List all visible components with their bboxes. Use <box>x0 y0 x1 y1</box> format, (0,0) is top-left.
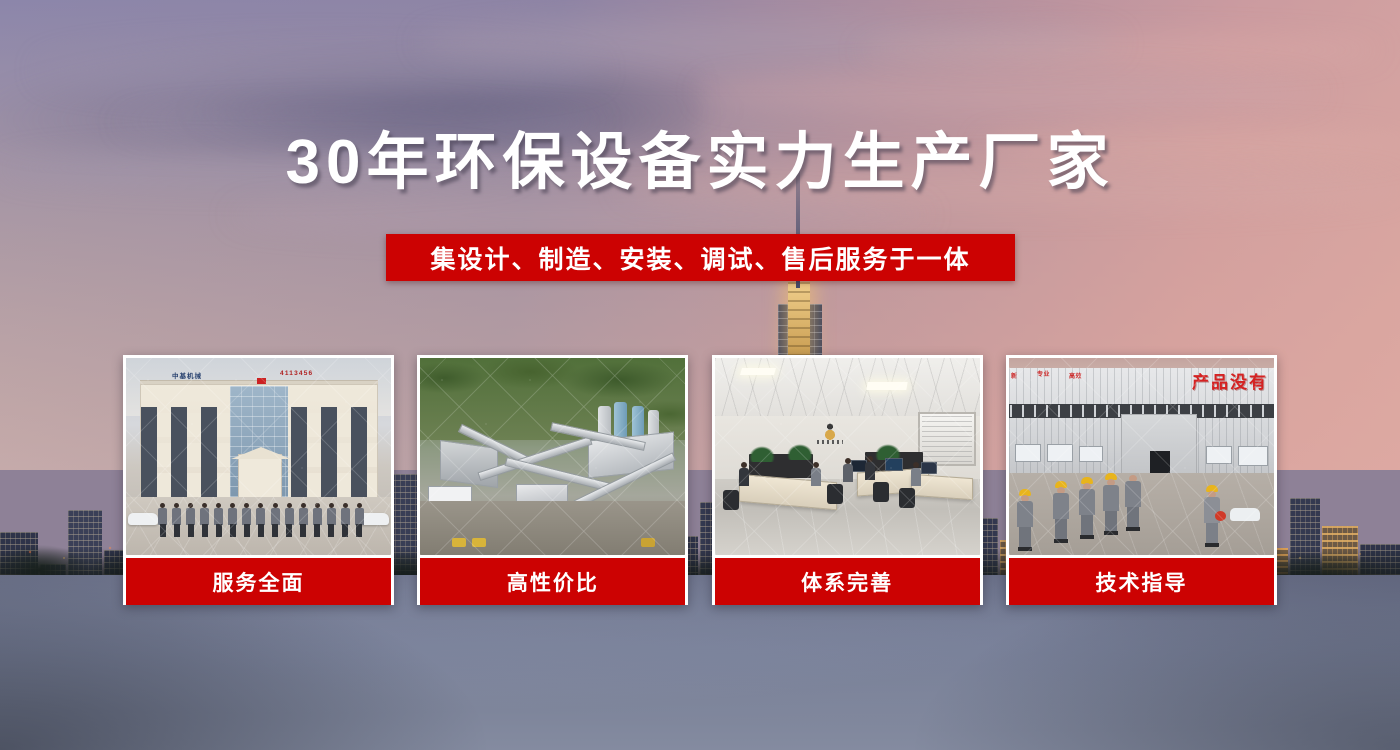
company-building-staff-photo: 中基机械 4113456 <box>126 358 391 555</box>
factory-slogan-small: 新 <box>1011 374 1018 382</box>
factory-slogan-small: 高效 <box>1069 374 1082 382</box>
feature-card[interactable]: 产品没有 新 专业 高效 技术指导 <box>1006 355 1277 605</box>
building-phone-text: 4113456 <box>280 370 313 377</box>
card-label: 技术指导 <box>1009 558 1274 605</box>
office-interior-photo <box>715 358 980 555</box>
feature-card[interactable]: 高性价比 <box>417 355 688 605</box>
feature-card-row: 中基机械 4113456 <box>123 355 1277 605</box>
card-label: 体系完善 <box>715 558 980 605</box>
tower-crown-lights <box>788 282 810 360</box>
feature-card[interactable]: 中基机械 4113456 <box>123 355 394 605</box>
feature-card[interactable]: 体系完善 <box>712 355 983 605</box>
factory-slogan-small: 专业 <box>1037 372 1050 380</box>
aerial-industrial-plant-photo <box>420 358 685 555</box>
staff-lineup <box>158 497 364 537</box>
page-title: 30年环保设备实力生产厂家 <box>0 132 1400 194</box>
card-label: 高性价比 <box>420 558 685 605</box>
window-blinds <box>918 412 976 466</box>
subtitle-banner: 集设计、制造、安装、调试、售后服务于一体 <box>386 234 1015 281</box>
factory-workers-photo: 产品没有 新 专业 高效 <box>1009 358 1274 555</box>
red-helmet <box>1215 511 1226 521</box>
hero-banner: 30年环保设备实力生产厂家 集设计、制造、安装、调试、售后服务于一体 中基机械 … <box>0 0 1400 750</box>
building-sign-text: 中基机械 <box>172 370 202 380</box>
wall-decal <box>813 420 847 444</box>
factory-slogan-large: 产品没有 <box>1192 368 1268 393</box>
card-label: 服务全面 <box>126 558 391 605</box>
